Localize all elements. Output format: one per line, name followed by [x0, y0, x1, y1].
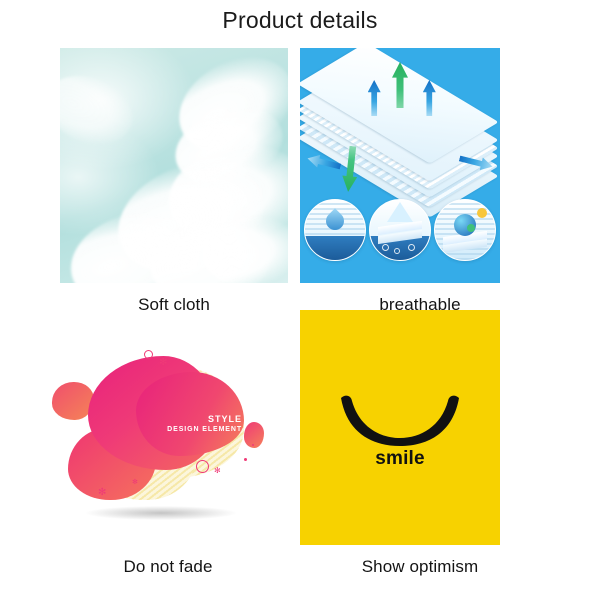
smile-curve-icon [335, 394, 465, 448]
globe-icon [454, 214, 476, 236]
breathable-inset-row [304, 199, 496, 261]
product-details-page: Product details Soft cloth [0, 0, 600, 600]
ring-decoration-icon [196, 460, 209, 473]
water-droplet-inset [304, 199, 366, 261]
smile-word-label: smile [300, 448, 500, 470]
page-title: Product details [0, 7, 600, 34]
detail-cell-do-not-fade[interactable]: STYLE DESIGN ELEMENT ✻ ✻ ✻ ✻ Do not fade [48, 310, 288, 577]
dot-decoration-icon [252, 444, 254, 446]
do-not-fade-image[interactable]: STYLE DESIGN ELEMENT ✻ ✻ ✻ ✻ [48, 310, 288, 545]
detail-cell-soft-cloth[interactable]: Soft cloth [48, 48, 288, 315]
blob-text-design-element: DESIGN ELEMENT [156, 425, 242, 434]
globe-inset [434, 199, 496, 261]
ring-decoration-icon [144, 350, 153, 359]
bubble-icon [394, 248, 400, 254]
detail-cell-show-optimism[interactable]: smile Show optimism [300, 310, 540, 577]
caption-show-optimism: Show optimism [300, 557, 540, 577]
fabric-layer-stack [305, 60, 495, 190]
star-decoration-icon: ✻ [98, 488, 106, 498]
detail-cell-breathable[interactable]: breathable [300, 48, 540, 315]
star-decoration-icon: ✻ [132, 478, 138, 488]
bubble-icon [382, 244, 389, 251]
star-decoration-icon: ✻ [214, 466, 221, 476]
product-detail-grid: Soft cloth [0, 48, 600, 600]
show-optimism-image[interactable]: smile [300, 310, 500, 545]
star-decoration-icon: ✻ [159, 358, 167, 368]
sun-icon [477, 208, 487, 218]
blob-ground-shadow [86, 506, 236, 520]
blob-overlay-text: STYLE DESIGN ELEMENT [156, 414, 242, 434]
soft-cloth-image[interactable] [60, 48, 288, 283]
water-wave [305, 236, 365, 260]
globe-particle [467, 224, 475, 232]
vapor-layers-inset [369, 199, 431, 261]
dot-decoration-icon [244, 458, 247, 461]
caption-do-not-fade: Do not fade [48, 557, 288, 577]
bubble-icon [408, 244, 415, 251]
blob-text-style: STYLE [156, 414, 242, 425]
vapor-icon [387, 202, 413, 222]
breathable-image[interactable] [300, 48, 500, 283]
